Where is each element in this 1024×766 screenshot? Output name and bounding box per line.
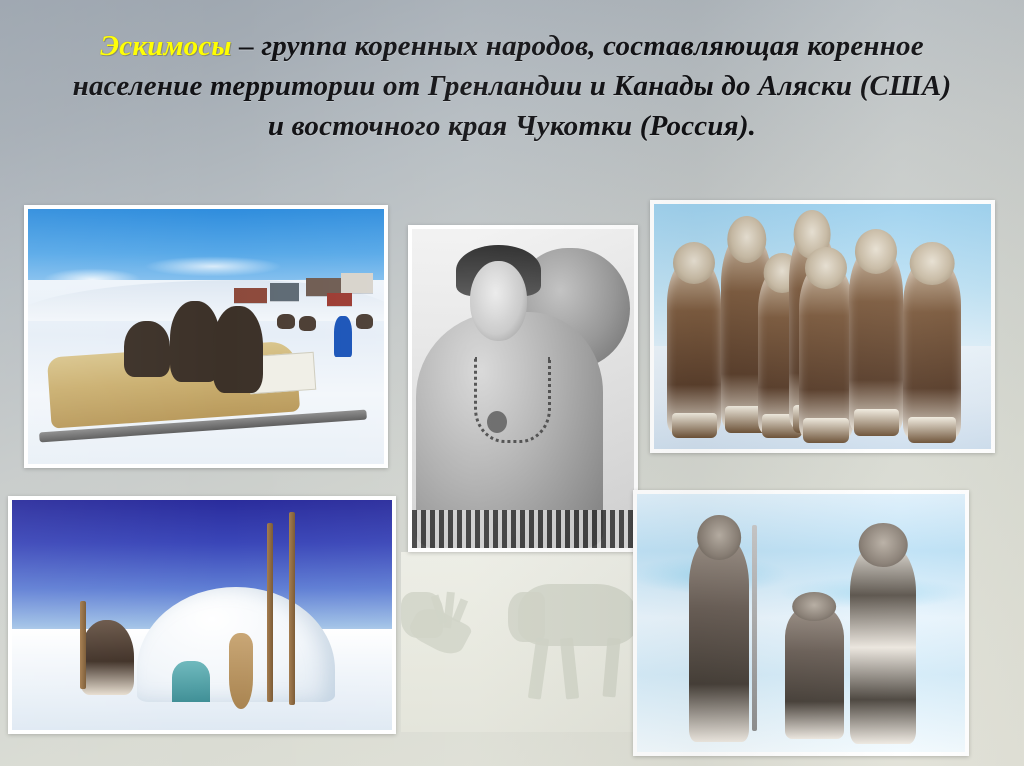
parka-hood [727,216,766,263]
person-seated [80,620,133,696]
kamik-boots [908,417,956,442]
title-line-3: и восточного края Чукотки (Россия). [24,106,1000,146]
person-on-sled [213,306,263,393]
photo-inuit-woman-image [412,229,634,548]
wooden-pole [289,512,295,705]
wooden-paddle [229,633,253,709]
photo-inuit-children[interactable] [650,200,995,453]
caribou-leg-icon [527,638,548,700]
parka-hem-trim [412,510,634,548]
title-line-1: Эскимосы – группа коренных народов, сост… [24,26,1000,66]
hunter-with-child [850,543,916,744]
title-keyword: Эскимосы [100,30,232,62]
hunter-kneeling [785,605,844,739]
kamik-boots [672,413,717,438]
hunter-standing [689,535,748,741]
children-scene [654,204,991,449]
child-in-parka [903,258,960,439]
igloo-entrance [172,661,210,702]
village-hut [234,288,266,303]
photo-dog-sled[interactable] [24,205,388,468]
parka-hood [673,242,715,284]
kamik-boots [854,409,899,435]
photo-dog-sled-image [28,209,384,464]
photo-ice-hunters-image [637,494,965,752]
photo-igloo-image [12,500,392,730]
kamik-boots [803,418,848,443]
caribou-leg-icon [602,638,620,698]
sled-scene [28,209,384,464]
harpoon-rack [80,601,86,688]
child-in-parka [849,246,903,432]
wooden-pole [267,523,273,702]
caribou-leg-icon [560,638,579,700]
slide-title: Эскимосы – группа коренных народов, сост… [24,26,1000,146]
person-blue-jacket [334,316,352,357]
sled-dog [299,316,317,331]
caribou-watermark [401,552,662,732]
person-on-sled [124,321,170,377]
face [470,261,528,341]
photo-ice-hunters[interactable] [633,490,969,756]
caribou-antler-icon [452,598,468,623]
parka-hood [805,247,847,289]
village-hut [270,283,298,301]
sled-dog [356,314,374,329]
photo-inuit-children-image [654,204,991,449]
child-in-parka [667,258,721,434]
sled-dog [277,314,295,329]
hunters-scene [637,494,965,752]
child-in-parka [799,263,853,439]
title-line-2: население территории от Гренландии и Кан… [24,66,1000,106]
igloo-scene [12,500,392,730]
beaded-necklace [474,357,551,443]
slide-canvas: Эскимосы – группа коренных народов, сост… [0,0,1024,766]
village-hut [327,293,352,306]
caribou-neck-icon [508,592,545,642]
parka-hood [792,592,836,622]
harpoon [752,525,757,731]
village-hut [341,273,373,293]
photo-inuit-woman-portrait[interactable] [408,225,638,552]
parka-hood [910,242,955,286]
parka-hood [859,523,908,567]
parka-hood [697,515,741,560]
title-line-1-rest: – группа коренных народов, составляющая … [232,30,924,62]
photo-igloo[interactable] [8,496,396,734]
woman-scene [412,229,634,548]
parka-hood [855,229,897,274]
